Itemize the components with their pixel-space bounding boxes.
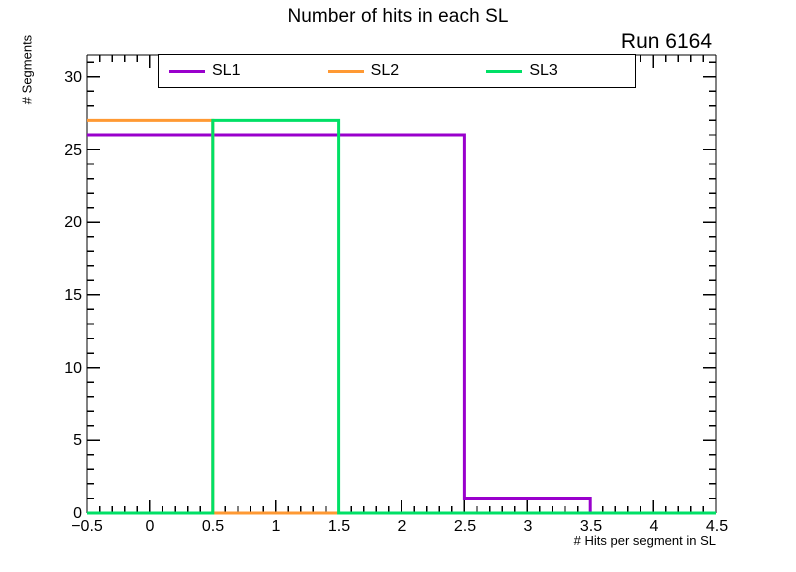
y-tick-label: 25 (22, 143, 82, 159)
x-tick-label: 0.5 (183, 519, 243, 535)
legend-item-sl2[interactable]: SL2 (318, 63, 477, 79)
x-tick-label: 3.5 (561, 519, 621, 535)
legend-line-sl3 (486, 70, 522, 73)
x-tick-label: 1.5 (309, 519, 369, 535)
x-tick-label: 4.5 (687, 519, 747, 535)
legend-label-sl3: SL3 (529, 63, 557, 79)
legend-label-sl1: SL1 (212, 63, 240, 79)
legend-item-sl1[interactable]: SL1 (159, 63, 318, 79)
plot-canvas: Number of hits in each SL Run 6164 # Seg… (0, 0, 796, 572)
y-tick-label: 20 (22, 215, 82, 231)
legend-label-sl2: SL2 (371, 63, 399, 79)
x-tick-label: 3 (498, 519, 558, 535)
y-tick-label: 30 (22, 70, 82, 86)
y-tick-label: 15 (22, 288, 82, 304)
x-tick-label: 1 (246, 519, 306, 535)
x-tick-label: 2.5 (435, 519, 495, 535)
x-tick-label: −0.5 (57, 519, 117, 535)
y-tick-labels: 0 5 10 15 20 25 30 (18, 0, 82, 572)
legend-line-sl2 (328, 70, 364, 73)
legend: SL1 SL2 SL3 (158, 54, 636, 88)
histogram-step-sl2 (87, 120, 716, 513)
histogram-step-sl1 (87, 135, 716, 513)
x-tick-label: 0 (120, 519, 180, 535)
legend-item-sl3[interactable]: SL3 (476, 63, 635, 79)
x-tick-label: 4 (624, 519, 684, 535)
y-tick-label: 10 (22, 361, 82, 377)
y-tick-label: 5 (22, 433, 82, 449)
legend-line-sl1 (169, 70, 205, 73)
histogram-step-sl3 (87, 120, 716, 513)
x-tick-label: 2 (372, 519, 432, 535)
x-tick-labels: −0.5 0 0.5 1 1.5 2 2.5 3 3.5 4 4.5 (0, 519, 796, 543)
